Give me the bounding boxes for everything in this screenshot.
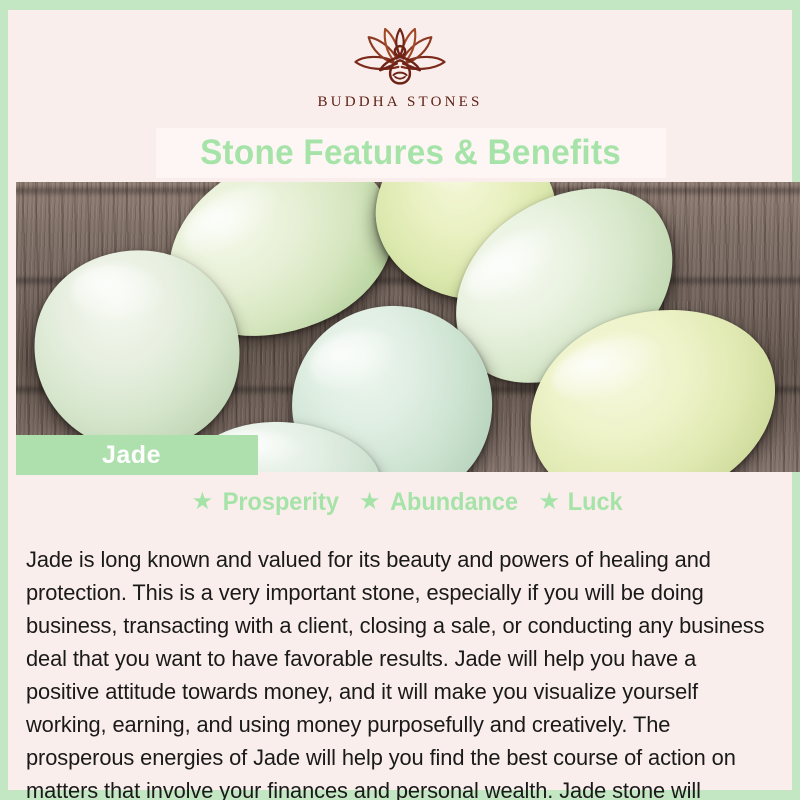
- stone-photo: [16, 182, 800, 472]
- lotus-meditation-icon: [334, 24, 466, 90]
- stone-name-ribbon: Jade: [16, 435, 258, 475]
- stone-name-label: Jade: [102, 441, 161, 470]
- title-banner: Stone Features & Benefits: [156, 128, 666, 178]
- star-icon: ★: [192, 490, 214, 514]
- benefit-item: ★ Luck: [538, 488, 624, 517]
- stone-photo-image: [16, 182, 800, 472]
- page-title: Stone Features & Benefits: [201, 133, 622, 173]
- benefit-label: Prosperity: [223, 488, 339, 517]
- benefit-label: Abundance: [390, 488, 518, 517]
- benefits-list: ★ Prosperity ★ Abundance ★ Luck: [16, 488, 800, 517]
- star-icon: ★: [359, 490, 381, 514]
- brand-wordmark: BUDDHA STONES: [317, 94, 482, 111]
- benefit-item: ★ Abundance: [359, 488, 523, 517]
- brand-header: BUDDHA STONES: [8, 10, 792, 120]
- poster-canvas: BUDDHA STONES Stone Features & Benefits: [0, 0, 800, 800]
- benefit-item: ★ Prosperity: [192, 488, 343, 517]
- content-card: BUDDHA STONES Stone Features & Benefits: [8, 10, 792, 790]
- star-icon: ★: [538, 490, 560, 514]
- stone-description: Jade is long known and valued for its be…: [26, 543, 769, 800]
- benefit-label: Luck: [568, 488, 623, 517]
